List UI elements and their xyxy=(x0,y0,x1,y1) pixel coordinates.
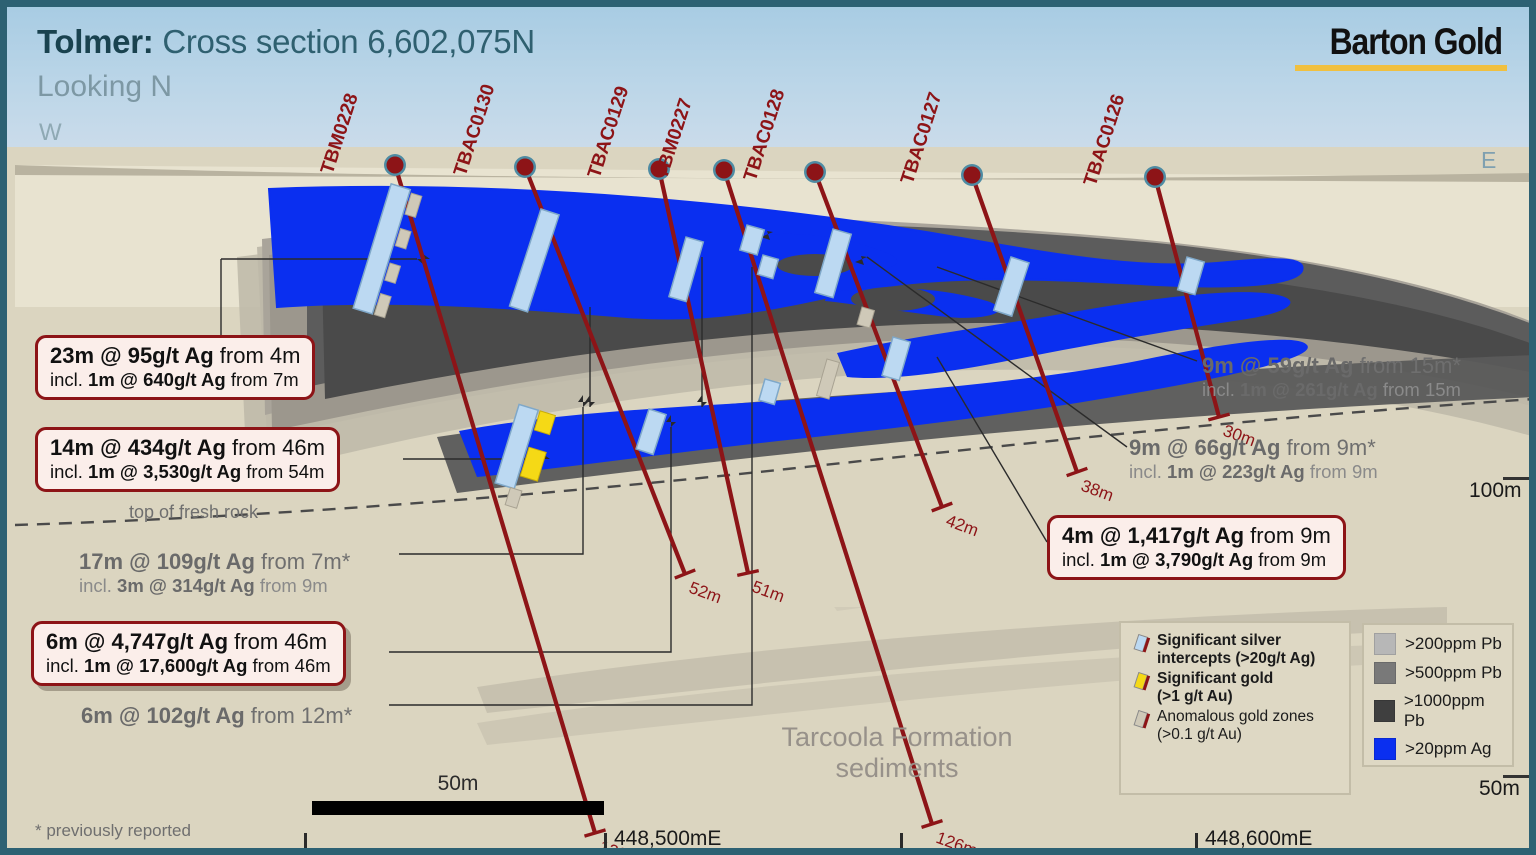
scale-bar-label: 50m xyxy=(312,772,604,796)
legend-symbols: Significant silverintercepts (>20g/t Ag)… xyxy=(1119,621,1351,795)
legend-swatch-label-pb-200: >200ppm Pb xyxy=(1405,634,1502,654)
gold-intercept-icon xyxy=(1131,672,1153,697)
legend-swatch-row-ag-20: >20ppm Ag xyxy=(1374,738,1504,760)
page-title: Tolmer: Cross section 6,602,075N xyxy=(37,23,535,61)
drillhole-collar-dot-tbac0127 xyxy=(964,167,981,184)
legend-swatch-row-pb-500: >500ppm Pb xyxy=(1374,662,1504,684)
legend-row-anomalous-gold: Anomalous gold zones(>0.1 g/t Au) xyxy=(1131,708,1341,743)
scale-bar xyxy=(312,801,604,815)
legend-label-significant-silver: Significant silverintercepts (>20g/t Ag) xyxy=(1157,632,1315,667)
legend-swatch-ag-20 xyxy=(1374,738,1396,760)
formation-label-line2: sediments xyxy=(767,753,1027,784)
easting-label-448500: 448,500mE xyxy=(614,827,721,851)
brand-name: Barton Gold xyxy=(1325,21,1507,63)
drillhole-collar-dot-tbm0227 xyxy=(716,162,733,179)
legend-swatch-pb-200 xyxy=(1374,633,1396,655)
note-17m-line2: incl. 3m @ 314g/t Ag from 9m xyxy=(79,575,350,597)
callout-14m: 14m @ 434g/t Ag from 46mincl. 1m @ 3,530… xyxy=(35,427,340,492)
note-9m-66-line2: incl. 1m @ 223g/t Ag from 9m xyxy=(1129,461,1378,483)
legend-swatch-label-pb-1000: >1000ppm Pb xyxy=(1404,691,1504,731)
easting-tick-3 xyxy=(900,833,903,855)
drillhole-collar-dot-tbm0228 xyxy=(387,157,404,174)
callout-4m-1417-line1: 4m @ 1,417g/t Ag from 9m xyxy=(1062,523,1331,549)
easting-label-448600: 448,600mE xyxy=(1205,827,1312,851)
legend-swatches: >200ppm Pb>500ppm Pb>1000ppm Pb>20ppm Ag xyxy=(1362,623,1514,767)
anomalous-gold-bar xyxy=(505,488,522,509)
cross-section-figure: Tolmer: Cross section 6,602,075N Looking… xyxy=(0,0,1536,855)
legend-swatch-pb-500 xyxy=(1374,662,1396,684)
note-17m-line1: 17m @ 109g/t Ag from 7m* xyxy=(79,549,350,575)
note-9m-59: 9m @ 59g/t Ag from 15m*incl. 1m @ 261g/t… xyxy=(1202,353,1461,401)
note-9m-66-line1: 9m @ 66g/t Ag from 9m* xyxy=(1129,435,1378,461)
view-direction-label: Looking N xyxy=(37,70,172,104)
drillhole-collar-dot-tbac0130 xyxy=(517,159,534,176)
drillhole-collar-dot-tbac0126 xyxy=(1147,169,1164,186)
formation-label-line1: Tarcoola Formation xyxy=(767,722,1027,753)
fresh-rock-label: top of fresh rock xyxy=(129,502,258,523)
depth-tick-50m-mark xyxy=(1503,775,1535,778)
legend-swatch-row-pb-200: >200ppm Pb xyxy=(1374,633,1504,655)
note-9m-59-line2: incl. 1m @ 261g/t Ag from 15m xyxy=(1202,379,1461,401)
page-title-bold: Tolmer: xyxy=(37,23,153,60)
legend-swatch-label-ag-20: >20ppm Ag xyxy=(1405,739,1492,759)
brand-logo: Barton Gold xyxy=(1295,21,1507,71)
callout-6m-4747-line2: incl. 1m @ 17,600g/t Ag from 46m xyxy=(46,655,331,677)
legend-label-anomalous-gold: Anomalous gold zones(>0.1 g/t Au) xyxy=(1157,708,1314,743)
easting-tick-1 xyxy=(304,833,307,855)
page-title-rest: Cross section 6,602,075N xyxy=(153,23,534,60)
note-17m: 17m @ 109g/t Ag from 7m*incl. 3m @ 314g/… xyxy=(79,549,350,597)
easting-tick-2 xyxy=(604,833,607,855)
note-6m-102: 6m @ 102g/t Ag from 12m* xyxy=(81,703,352,729)
note-9m-66: 9m @ 66g/t Ag from 9m*incl. 1m @ 223g/t … xyxy=(1129,435,1378,483)
callout-23m-line1: 23m @ 95g/t Ag from 4m xyxy=(50,343,300,369)
callout-6m-4747: 6m @ 4,747g/t Ag from 46mincl. 1m @ 17,6… xyxy=(31,621,346,686)
callout-4m-1417: 4m @ 1,417g/t Ag from 9mincl. 1m @ 3,790… xyxy=(1047,515,1346,580)
callout-6m-4747-line1: 6m @ 4,747g/t Ag from 46m xyxy=(46,629,331,655)
legend-row-significant-gold: Significant gold(>1 g/t Au) xyxy=(1131,670,1341,705)
legend-label-significant-gold: Significant gold(>1 g/t Au) xyxy=(1157,670,1273,705)
callout-14m-line2: incl. 1m @ 3,530g/t Ag from 54m xyxy=(50,461,325,483)
silver-intercept-icon xyxy=(1131,634,1153,659)
legend-row-significant-silver: Significant silverintercepts (>20g/t Ag) xyxy=(1131,632,1341,667)
east-label: E xyxy=(1481,147,1496,174)
west-label: W xyxy=(39,119,62,147)
drillhole-collar-dot-tbac0128 xyxy=(807,164,824,181)
brand-accent-bar xyxy=(1295,65,1507,71)
callout-23m-line2: incl. 1m @ 640g/t Ag from 7m xyxy=(50,369,300,391)
legend-swatch-pb-1000 xyxy=(1374,700,1395,722)
note-6m-102-line1: 6m @ 102g/t Ag from 12m* xyxy=(81,703,352,729)
callout-23m: 23m @ 95g/t Ag from 4mincl. 1m @ 640g/t … xyxy=(35,335,315,400)
callout-14m-line1: 14m @ 434g/t Ag from 46m xyxy=(50,435,325,461)
depth-tick-50m: 50m xyxy=(1479,777,1520,801)
easting-tick-4 xyxy=(1195,833,1198,855)
eoh-tick-tbac0129 xyxy=(737,571,758,576)
depth-tick-100m: 100m xyxy=(1469,479,1522,503)
legend-swatch-row-pb-1000: >1000ppm Pb xyxy=(1374,691,1504,731)
formation-label: Tarcoola Formation sediments xyxy=(767,722,1027,784)
footnote-previously-reported: * previously reported xyxy=(35,821,191,841)
callout-4m-1417-line2: incl. 1m @ 3,790g/t Ag from 9m xyxy=(1062,549,1331,571)
anomalous-gold-icon xyxy=(1131,710,1153,735)
note-9m-59-line1: 9m @ 59g/t Ag from 15m* xyxy=(1202,353,1461,379)
depth-tick-100m-mark xyxy=(1503,477,1535,480)
legend-swatch-label-pb-500: >500ppm Pb xyxy=(1405,663,1502,683)
